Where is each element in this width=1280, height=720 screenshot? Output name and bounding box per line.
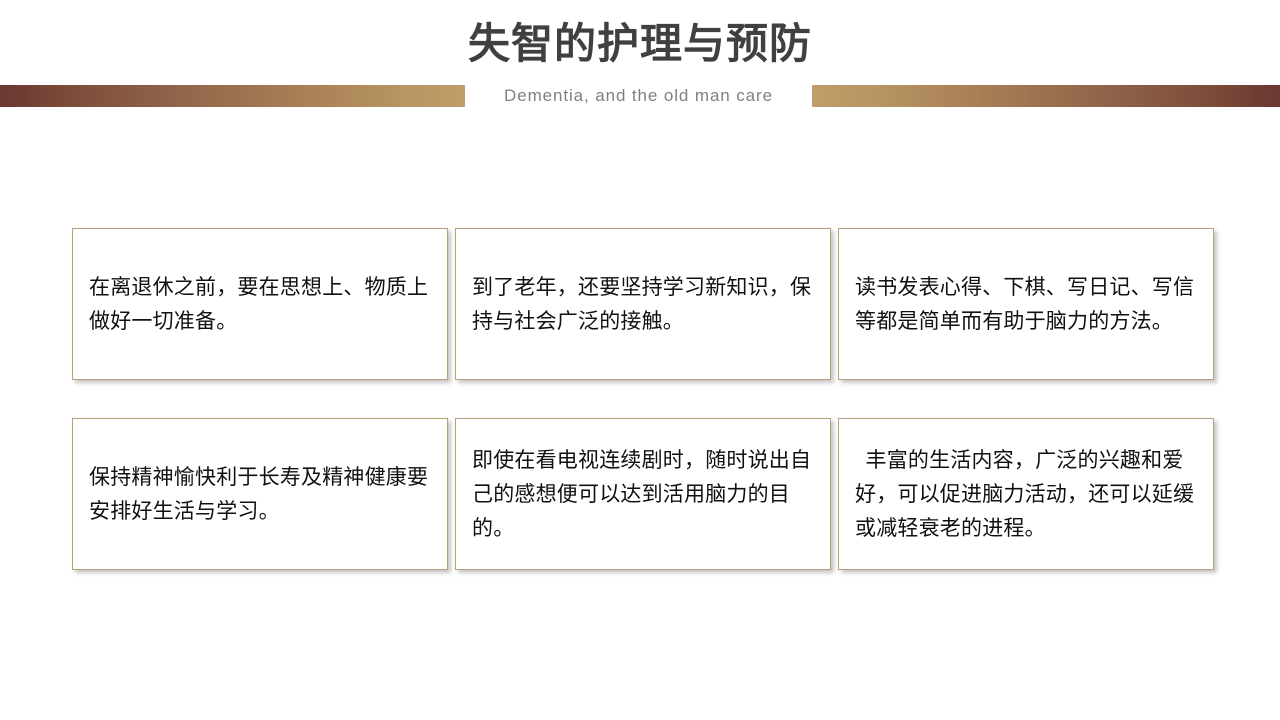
page-subtitle: Dementia, and the old man care (465, 85, 812, 107)
accent-bar-left (0, 85, 465, 107)
content-card-2-text: 到了老年，还要坚持学习新知识，保持与社会广泛的接触。 (472, 270, 814, 338)
content-card-2[interactable]: 到了老年，还要坚持学习新知识，保持与社会广泛的接触。 (455, 228, 831, 380)
page-title: 失智的护理与预防 (0, 20, 1280, 68)
content-card-1-text: 在离退休之前，要在思想上、物质上做好一切准备。 (89, 270, 431, 338)
content-card-4-text: 保持精神愉快利于长寿及精神健康要安排好生活与学习。 (89, 460, 431, 528)
content-card-5-text: 即使在看电视连续剧时，随时说出自己的感想便可以达到活用脑力的目的。 (472, 443, 814, 545)
content-card-5[interactable]: 即使在看电视连续剧时，随时说出自己的感想便可以达到活用脑力的目的。 (455, 418, 831, 570)
content-card-3[interactable]: 读书发表心得、下棋、写日记、写信等都是简单而有助于脑力的方法。 (838, 228, 1214, 380)
accent-bar-right (812, 85, 1280, 107)
content-card-6-text: 丰富的生活内容，广泛的兴趣和爱好，可以促进脑力活动，还可以延缓或减轻衰老的进程。 (855, 443, 1197, 545)
content-card-grid: 在离退休之前，要在思想上、物质上做好一切准备。 到了老年，还要坚持学习新知识，保… (72, 228, 1218, 570)
content-card-4[interactable]: 保持精神愉快利于长寿及精神健康要安排好生活与学习。 (72, 418, 448, 570)
content-card-6[interactable]: 丰富的生活内容，广泛的兴趣和爱好，可以促进脑力活动，还可以延缓或减轻衰老的进程。 (838, 418, 1214, 570)
content-card-1[interactable]: 在离退休之前，要在思想上、物质上做好一切准备。 (72, 228, 448, 380)
content-card-3-text: 读书发表心得、下棋、写日记、写信等都是简单而有助于脑力的方法。 (855, 270, 1197, 338)
slide-header: 失智的护理与预防 Dementia, and the old man care (0, 0, 1280, 115)
